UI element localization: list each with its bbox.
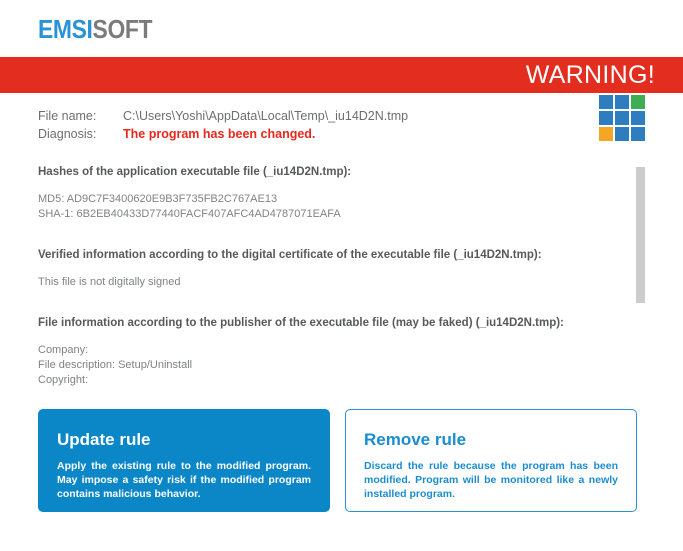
grid-tile-4 <box>599 111 613 125</box>
file-name-value: C:\Users\Yoshi\AppData\Local\Temp\_iu14D… <box>123 107 408 125</box>
details-scrollbar[interactable] <box>636 165 645 375</box>
grid-tile-2 <box>615 95 629 109</box>
grid-logo-icon <box>599 95 645 141</box>
action-button-group: Update rule Apply the existing rule to t… <box>38 409 655 512</box>
hashes-section-body: MD5: AD9C7F3400620E9B3F735FB2C767AE13 SH… <box>38 192 631 222</box>
hashes-section-title: Hashes of the application executable fil… <box>38 165 631 180</box>
publisher-section-title: File information according to the publis… <box>38 316 631 331</box>
publisher-company-value: Company: <box>38 343 631 358</box>
grid-tile-5 <box>615 111 629 125</box>
file-name-label: File name: <box>38 107 123 125</box>
remove-rule-description: Discard the rule because the program has… <box>364 459 618 501</box>
diagnosis-label: Diagnosis: <box>38 125 123 143</box>
emsisoft-logo: EMSISOFT <box>38 16 152 42</box>
certificate-status-value: This file is not digitally signed <box>38 275 631 290</box>
grid-tile-1 <box>599 95 613 109</box>
remove-rule-title: Remove rule <box>364 430 618 450</box>
certificate-section-body: This file is not digitally signed <box>38 275 631 290</box>
warning-banner: WARNING! <box>0 57 683 93</box>
grid-tile-9 <box>631 127 645 141</box>
remove-rule-button[interactable]: Remove rule Discard the rule because the… <box>345 409 637 512</box>
update-rule-button[interactable]: Update rule Apply the existing rule to t… <box>38 409 330 512</box>
grid-tile-3 <box>631 95 645 109</box>
logo-text-primary: EMSI <box>38 14 93 44</box>
app-header: EMSISOFT <box>0 0 683 57</box>
warning-label: WARNING! <box>526 63 655 88</box>
diagnosis-value: The program has been changed. <box>123 125 315 143</box>
md5-hash-value: MD5: AD9C7F3400620E9B3F735FB2C767AE13 <box>38 192 631 207</box>
logo-text-secondary: SOFT <box>93 14 153 44</box>
diagnosis-row: Diagnosis: The program has been changed. <box>38 125 683 143</box>
sha1-hash-value: SHA-1: 6B2EB40433D77440FACF407AFC4AD4787… <box>38 207 631 222</box>
publisher-section-body: Company: File description: Setup/Uninsta… <box>38 343 631 388</box>
update-rule-description: Apply the existing rule to the modified … <box>57 459 311 501</box>
details-panel[interactable]: Hashes of the application executable fil… <box>0 165 683 375</box>
publisher-copyright-value: Copyright: <box>38 373 631 388</box>
file-summary: File name: C:\Users\Yoshi\AppData\Local\… <box>0 93 683 143</box>
certificate-section-title: Verified information according to the di… <box>38 248 631 263</box>
publisher-description-value: File description: Setup/Uninstall <box>38 358 631 373</box>
grid-tile-6 <box>631 111 645 125</box>
file-name-row: File name: C:\Users\Yoshi\AppData\Local\… <box>38 107 683 125</box>
grid-tile-8 <box>615 127 629 141</box>
update-rule-title: Update rule <box>57 430 311 450</box>
grid-tile-7 <box>599 127 613 141</box>
details-scrollbar-thumb[interactable] <box>636 167 645 303</box>
